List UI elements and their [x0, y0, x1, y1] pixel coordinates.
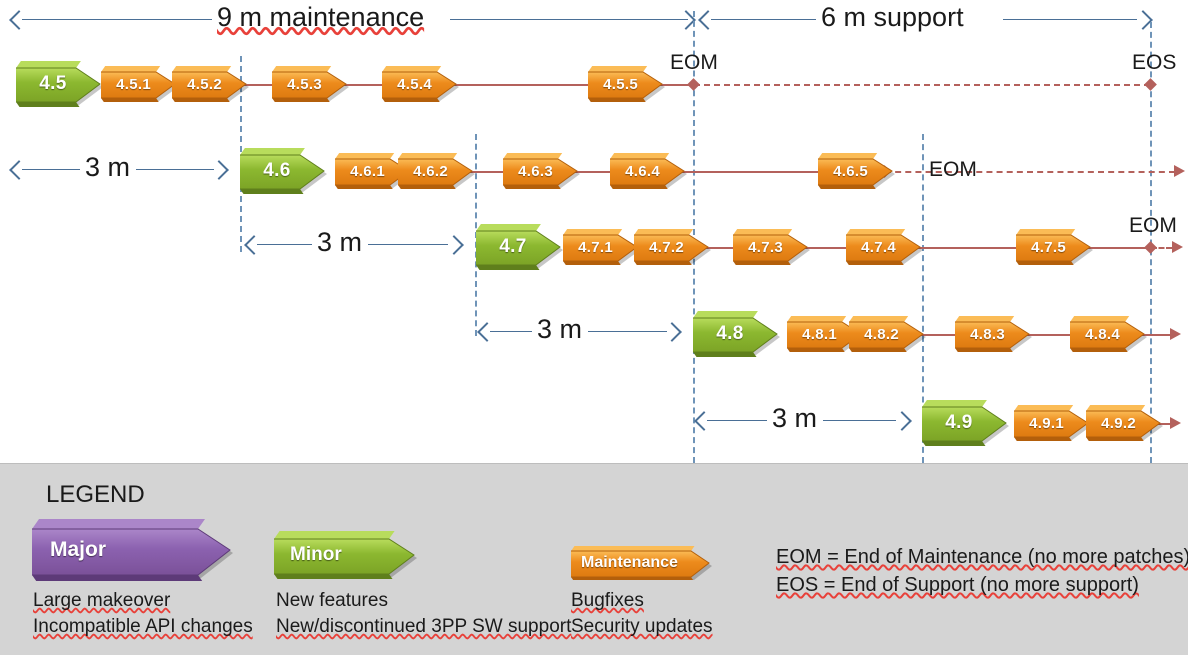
release-patch-4.7.1[interactable]: 4.7.1: [563, 229, 637, 265]
offset-line-right-4.6: [136, 169, 214, 170]
release-patch-4.7.5[interactable]: 4.7.5: [1016, 229, 1090, 265]
release-patch-4.5.4[interactable]: 4.5.4: [382, 66, 456, 102]
offset-label-4.9: 3 m: [772, 403, 817, 434]
release-minor-4.8[interactable]: 4.8: [693, 311, 777, 357]
rail-4.7-arrowhead: [1172, 241, 1183, 253]
eom-diamond-4.7: [1144, 241, 1157, 254]
offset-arrow-head-right-4.9: [892, 411, 912, 431]
offset-arrow-head-left-4.7: [244, 235, 264, 255]
legend-desc-minor-line-1: New features: [276, 590, 388, 612]
release-patch-4.8.2[interactable]: 4.8.2: [849, 316, 923, 352]
legend-shape-label-minor: Minor: [274, 531, 414, 579]
offset-line-left-4.9: [707, 420, 767, 421]
legend-shape-label-major: Major: [32, 519, 230, 581]
eom-label-4.6: EOM: [929, 158, 977, 182]
maintenance-span-line-right: [450, 19, 688, 20]
roadmap-diagram: 9 m maintenance 6 m support EOM EOS EOM …: [0, 0, 1188, 654]
offset-label-4.8: 3 m: [537, 314, 582, 345]
legend-shape-label-maintenance: Maintenance: [571, 546, 709, 580]
offset-line-right-4.8: [588, 331, 667, 332]
release-patch-4.5.3[interactable]: 4.5.3: [272, 66, 346, 102]
release-patch-4.6.3[interactable]: 4.6.3: [503, 153, 577, 189]
legend-definition-eos: EOS = End of Support (no more support): [776, 574, 1139, 597]
release-patch-4.6.2[interactable]: 4.6.2: [398, 153, 472, 189]
release-patch-4.6.5[interactable]: 4.6.5: [818, 153, 892, 189]
offset-line-right-4.7: [368, 244, 448, 245]
offset-line-left-4.6: [22, 169, 80, 170]
legend-desc-major-line-2: Incompatible API changes: [33, 616, 253, 638]
offset-line-left-4.7: [257, 244, 312, 245]
offset-label-4.7: 3 m: [317, 227, 362, 258]
release-patch-4.7.4[interactable]: 4.7.4: [846, 229, 920, 265]
support-span-label: 6 m support: [821, 2, 964, 33]
offset-arrow-head-left-4.6: [9, 160, 29, 180]
offset-line-right-4.9: [823, 420, 896, 421]
offset-arrow-head-left-4.8: [477, 322, 497, 342]
maintenance-arrow-head-left: [9, 10, 29, 30]
release-patch-4.6.4[interactable]: 4.6.4: [610, 153, 684, 189]
release-patch-4.8.4[interactable]: 4.8.4: [1070, 316, 1144, 352]
rail-4.9-arrowhead: [1170, 417, 1181, 429]
eom-label-4.5: EOM: [670, 51, 718, 75]
legend-shape-maintenance: Maintenance: [571, 546, 709, 580]
maintenance-span-line-left: [22, 19, 212, 20]
release-patch-4.7.3[interactable]: 4.7.3: [733, 229, 807, 265]
legend-desc-maintenance-line-2: Security updates: [571, 616, 713, 638]
offset-arrow-head-left-4.9: [694, 411, 714, 431]
release-patch-4.9.1[interactable]: 4.9.1: [1014, 405, 1088, 441]
release-patch-4.5.5[interactable]: 4.5.5: [588, 66, 662, 102]
release-minor-4.6[interactable]: 4.6: [240, 148, 324, 194]
offset-arrow-head-right-4.8: [662, 322, 682, 342]
support-arrow-head-left: [698, 10, 718, 30]
legend-desc-minor-line-2: New/discontinued 3PP SW support: [276, 616, 571, 638]
offset-label-4.6: 3 m: [85, 152, 130, 183]
maintenance-span-label: 9 m maintenance: [217, 2, 424, 33]
support-span-line-right: [1003, 19, 1137, 20]
rail-4.6-arrowhead: [1174, 165, 1185, 177]
legend-title: LEGEND: [46, 481, 145, 509]
release-minor-4.5[interactable]: 4.5: [16, 61, 100, 107]
legend-desc-major-line-1: Large makeover: [33, 590, 170, 612]
legend-definition-eom: EOM = End of Maintenance (no more patche…: [776, 546, 1188, 569]
offset-line-left-4.8: [490, 331, 532, 332]
eos-label-4.5: EOS: [1132, 51, 1176, 75]
legend-shape-minor: Minor: [274, 531, 414, 579]
release-minor-4.7[interactable]: 4.7: [476, 224, 560, 270]
release-patch-4.5.2[interactable]: 4.5.2: [172, 66, 246, 102]
eom-diamond-4.5: [687, 78, 700, 91]
legend-shape-major: Major: [32, 519, 230, 581]
rail-4.5-dashed: [694, 84, 1150, 86]
release-patch-4.8.3[interactable]: 4.8.3: [955, 316, 1029, 352]
offset-arrow-head-right-4.7: [444, 235, 464, 255]
eom-label-4.7: EOM: [1129, 214, 1177, 238]
rail-4.8-arrowhead: [1170, 328, 1181, 340]
offset-arrow-head-right-4.6: [209, 160, 229, 180]
support-span-line-left: [711, 19, 816, 20]
legend-desc-maintenance-line-1: Bugfixes: [571, 590, 644, 612]
release-minor-4.9[interactable]: 4.9: [922, 400, 1006, 446]
release-patch-4.7.2[interactable]: 4.7.2: [634, 229, 708, 265]
release-patch-4.5.1[interactable]: 4.5.1: [101, 66, 175, 102]
release-patch-4.9.2[interactable]: 4.9.2: [1086, 405, 1160, 441]
legend-panel: LEGEND Major Large makeover Incompatible…: [0, 463, 1188, 655]
eos-diamond-4.5: [1144, 78, 1157, 91]
